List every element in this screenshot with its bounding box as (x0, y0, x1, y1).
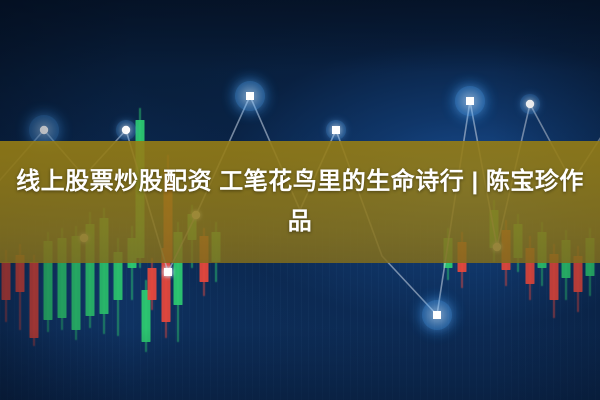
trend-node (164, 268, 172, 276)
title-band: 线上股票炒股配资 工笔花鸟里的生命诗行 | 陈宝珍作品 (0, 141, 600, 263)
trend-node (433, 311, 441, 319)
stock-banner: 线上股票炒股配资 工笔花鸟里的生命诗行 | 陈宝珍作品 (0, 0, 600, 400)
candle-body (2, 262, 11, 300)
candle-body (148, 268, 157, 300)
trend-node (526, 100, 534, 108)
trend-node (332, 126, 340, 134)
trend-node (246, 92, 254, 100)
trend-node (122, 126, 130, 134)
candle-body (30, 262, 39, 338)
page-title: 线上股票炒股配资 工笔花鸟里的生命诗行 | 陈宝珍作品 (0, 162, 600, 242)
trend-node (40, 126, 48, 134)
trend-node (466, 97, 474, 105)
